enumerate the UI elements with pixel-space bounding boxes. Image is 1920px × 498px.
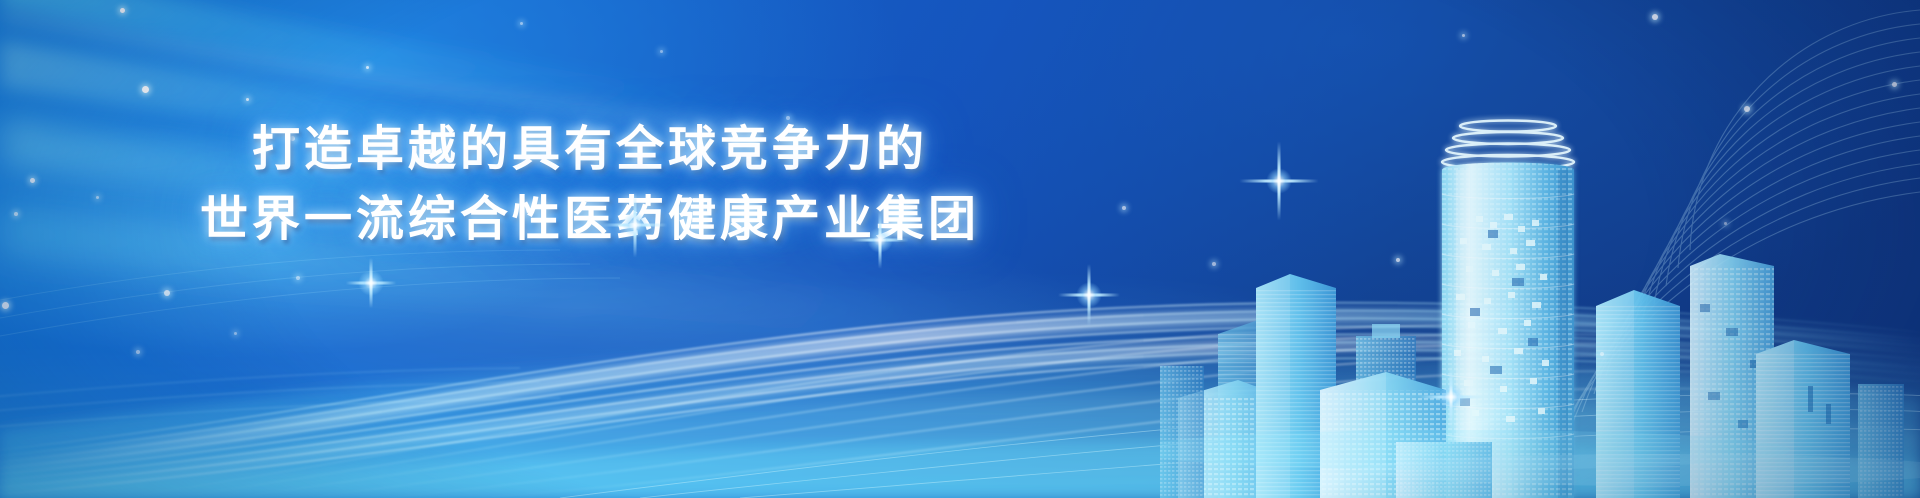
particle-dot bbox=[234, 332, 237, 335]
sparkle-icon bbox=[1406, 352, 1496, 442]
particle-dot bbox=[2, 302, 9, 309]
headline-line-2: 世界一流综合性医药健康产业集团 bbox=[0, 188, 1180, 250]
particle-dot bbox=[296, 276, 300, 280]
sparkle-icon bbox=[336, 248, 406, 318]
particle-dot bbox=[1744, 106, 1750, 112]
particle-dot bbox=[1396, 258, 1400, 262]
particle-dot bbox=[520, 22, 523, 25]
sparkle-icon bbox=[1046, 252, 1132, 338]
particle-dot bbox=[142, 86, 149, 93]
hero-banner: 打造卓越的具有全球竞争力的 世界一流综合性医药健康产业集团 bbox=[0, 0, 1920, 498]
particle-dot bbox=[366, 66, 369, 69]
particle-dot bbox=[1892, 82, 1897, 87]
particle-dot bbox=[246, 98, 249, 101]
particle-dot bbox=[1600, 352, 1604, 356]
bottom-glow-layer bbox=[0, 348, 1920, 498]
city-skyline-graphic bbox=[1160, 98, 1920, 498]
particle-dot bbox=[136, 350, 140, 354]
particle-dot bbox=[1212, 262, 1216, 266]
sparkle-icon bbox=[1224, 126, 1334, 236]
particle-dot bbox=[1724, 222, 1727, 225]
headline-line-1: 打造卓越的具有全球竞争力的 bbox=[0, 118, 1180, 180]
particle-dot bbox=[120, 8, 125, 13]
particle-dot bbox=[164, 290, 170, 296]
particle-dot bbox=[1652, 14, 1658, 20]
headline-block: 打造卓越的具有全球竞争力的 世界一流综合性医药健康产业集团 bbox=[0, 118, 1180, 250]
particle-dot bbox=[660, 50, 663, 53]
particle-dot bbox=[1462, 34, 1465, 37]
